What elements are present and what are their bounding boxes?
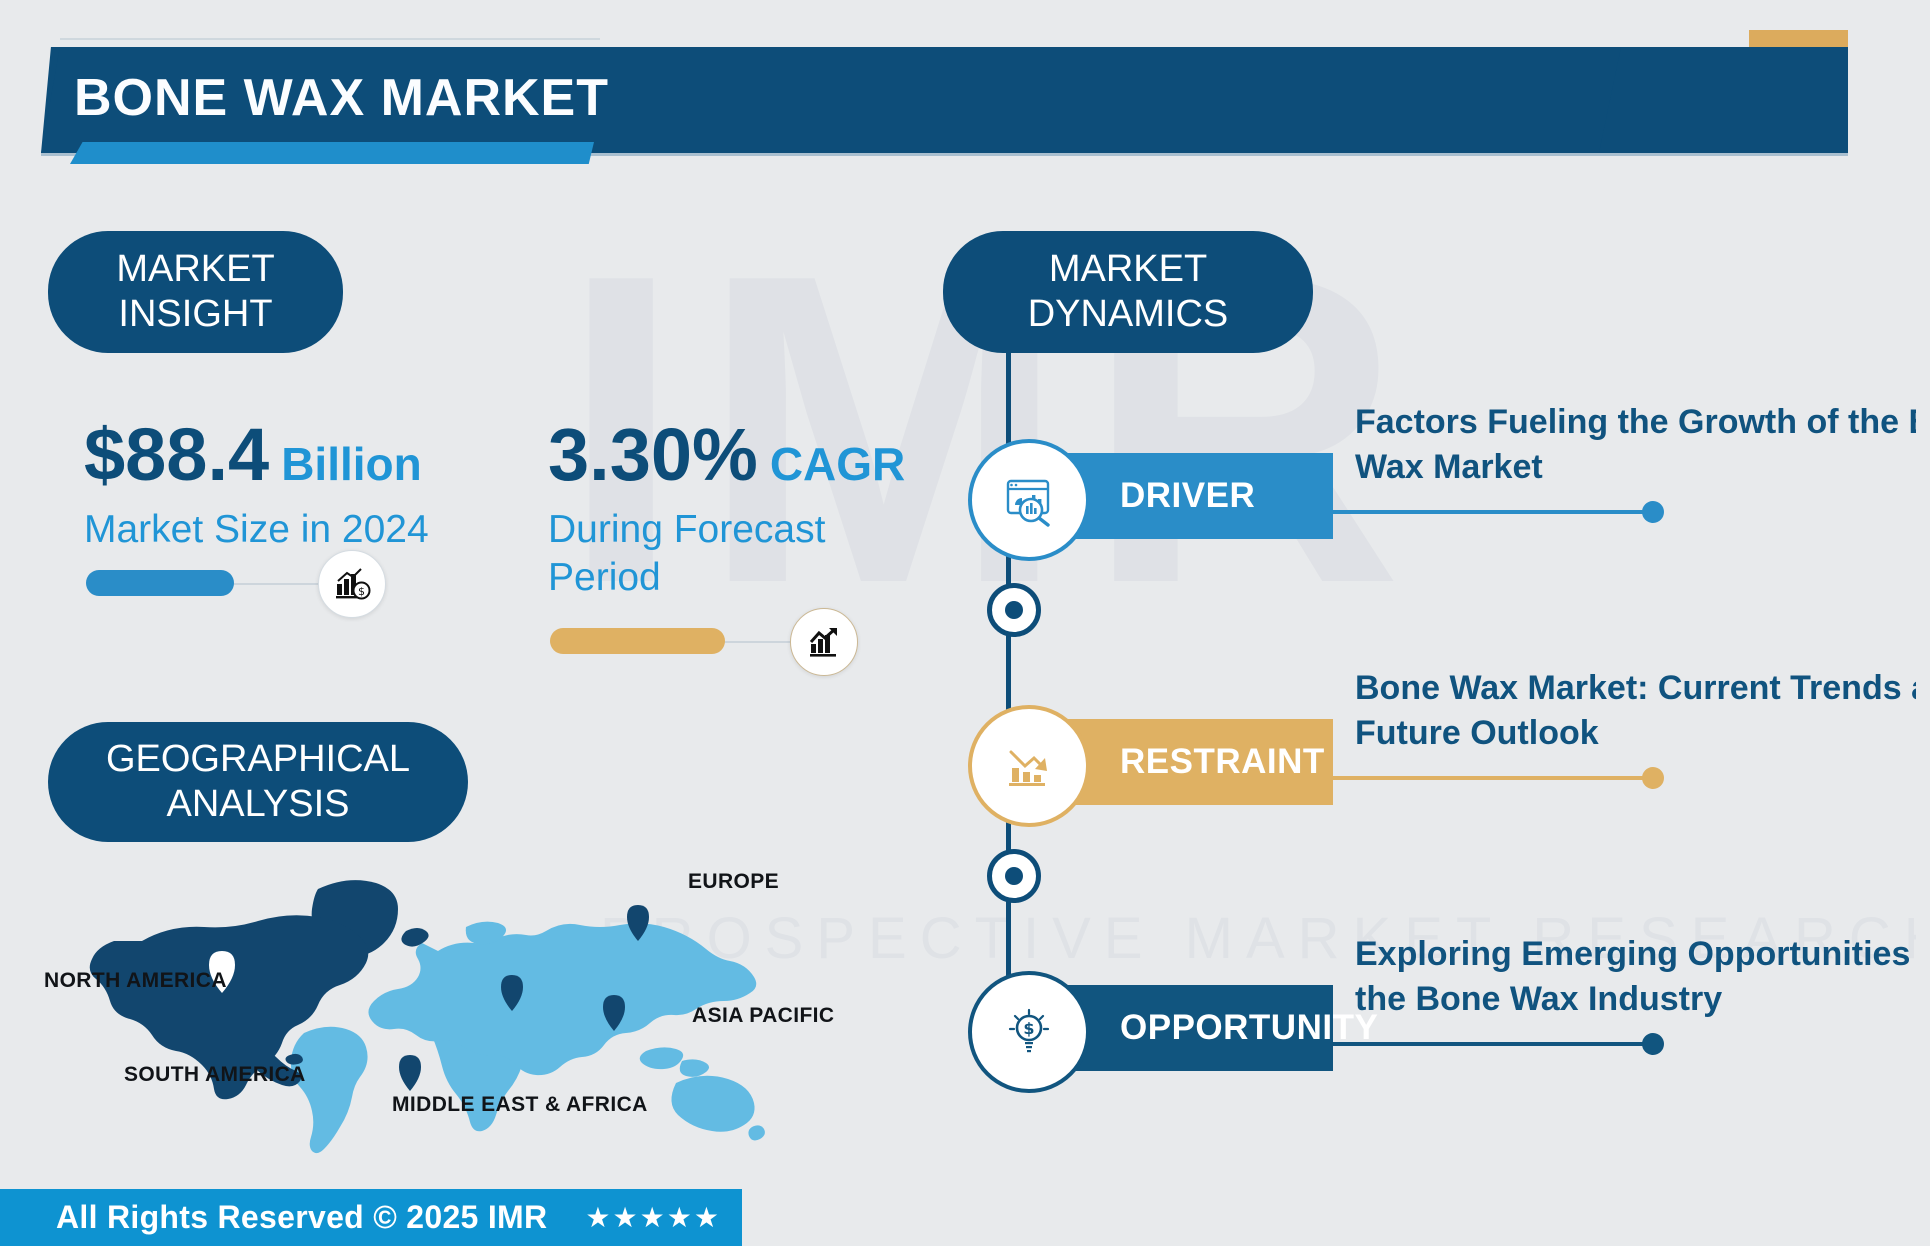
cagr-value: 3.30% xyxy=(548,418,758,492)
market-size-caption: Market Size in 2024 xyxy=(84,506,444,554)
restraint-description: Bone Wax Market: Current Trends and Futu… xyxy=(1355,666,1930,756)
bar-chart-dollar-icon: $ xyxy=(318,550,386,618)
market-dynamics-label: MARKETDYNAMICS xyxy=(1028,247,1229,337)
region-label-north-america: NORTH AMERICA xyxy=(44,969,227,993)
cagr-caption: During Forecast Period xyxy=(548,506,908,601)
section-pill-geographical-analysis: GEOGRAPHICALANALYSIS xyxy=(48,722,468,842)
declining-chart-icon xyxy=(968,705,1090,827)
copyright-text: All Rights Reserved © 2025 IMR xyxy=(56,1199,547,1236)
driver-connector-dot xyxy=(1642,501,1664,523)
header-accent-bar xyxy=(70,142,594,164)
cagr-progress-fill xyxy=(550,628,725,654)
section-pill-market-dynamics: MARKETDYNAMICS xyxy=(943,231,1313,353)
top-divider-line xyxy=(60,38,600,40)
page-title: BONE WAX MARKET xyxy=(74,68,609,128)
svg-text:$: $ xyxy=(358,585,365,598)
rating-stars: ★★★★★ xyxy=(585,1201,721,1234)
stat-cagr: 3.30%CAGR During Forecast Period xyxy=(548,418,908,601)
footer-bar: All Rights Reserved © 2025 IMR ★★★★★ xyxy=(0,1189,742,1246)
timeline-node-2 xyxy=(987,849,1041,903)
market-insight-label: MARKETINSIGHT xyxy=(116,247,274,337)
driver-label: DRIVER xyxy=(1120,476,1255,516)
market-size-unit: Billion xyxy=(281,437,422,491)
region-label-middle-east-africa: MIDDLE EAST & AFRICA xyxy=(392,1093,648,1117)
restraint-label: RESTRAINT xyxy=(1120,742,1325,782)
growth-arrow-chart-icon xyxy=(790,608,858,676)
opportunity-description: Exploring Emerging Opportunities in the … xyxy=(1355,932,1930,1022)
restraint-connector-dot xyxy=(1642,767,1664,789)
region-label-south-america: SOUTH AMERICA xyxy=(124,1063,306,1087)
dynamics-item-driver[interactable]: DRIVER xyxy=(1008,453,1333,539)
right-edge-margin xyxy=(1916,0,1930,1246)
analytics-magnifier-icon xyxy=(968,439,1090,561)
timeline-node-1 xyxy=(987,583,1041,637)
restraint-connector xyxy=(1333,776,1653,780)
dynamics-item-restraint[interactable]: RESTRAINT xyxy=(1008,719,1333,805)
opportunity-label: OPPORTUNITY xyxy=(1120,1008,1378,1048)
opportunity-connector xyxy=(1333,1042,1653,1046)
market-size-value: $88.4 xyxy=(84,418,269,492)
svg-text:$: $ xyxy=(1023,1019,1034,1038)
section-pill-market-insight: MARKETINSIGHT xyxy=(48,231,343,353)
stat-market-size: $88.4Billion Market Size in 2024 xyxy=(84,418,444,554)
infographic-canvas: IMR PROSPECTIVE MARKET RESEARCH BONE WAX… xyxy=(0,0,1930,1246)
dynamics-item-opportunity[interactable]: $ OPPORTUNITY xyxy=(1008,985,1333,1071)
region-label-europe: EUROPE xyxy=(688,870,779,894)
lightbulb-dollar-icon: $ xyxy=(968,971,1090,1093)
geographical-analysis-label: GEOGRAPHICALANALYSIS xyxy=(106,737,410,827)
market-size-progress-fill xyxy=(86,570,234,596)
region-label-asia-pacific: ASIA PACIFIC xyxy=(692,1004,834,1028)
driver-description: Factors Fueling the Growth of the Bone W… xyxy=(1355,400,1930,490)
driver-connector xyxy=(1333,510,1653,514)
cagr-unit: CAGR xyxy=(770,437,905,491)
opportunity-connector-dot xyxy=(1642,1033,1664,1055)
